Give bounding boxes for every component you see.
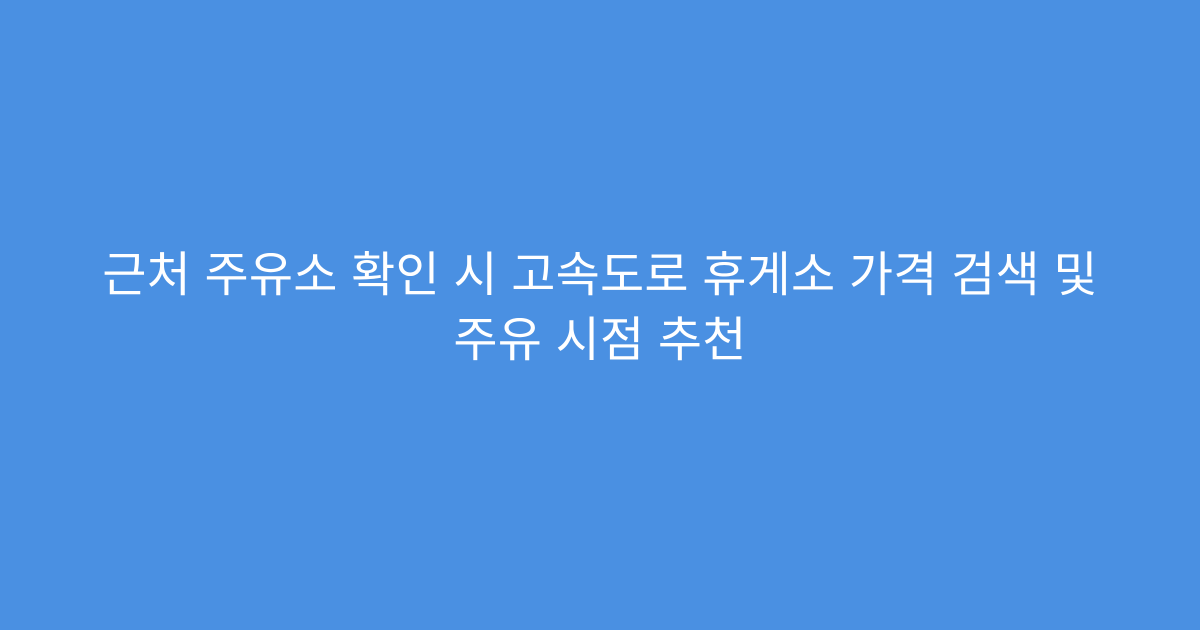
og-card: 근처 주유소 확인 시 고속도로 휴게소 가격 검색 및 주유 시점 추천 [0, 0, 1200, 630]
title-container: 근처 주유소 확인 시 고속도로 휴게소 가격 검색 및 주유 시점 추천 [0, 243, 1200, 373]
page-title: 근처 주유소 확인 시 고속도로 휴게소 가격 검색 및 주유 시점 추천 [64, 243, 1136, 373]
